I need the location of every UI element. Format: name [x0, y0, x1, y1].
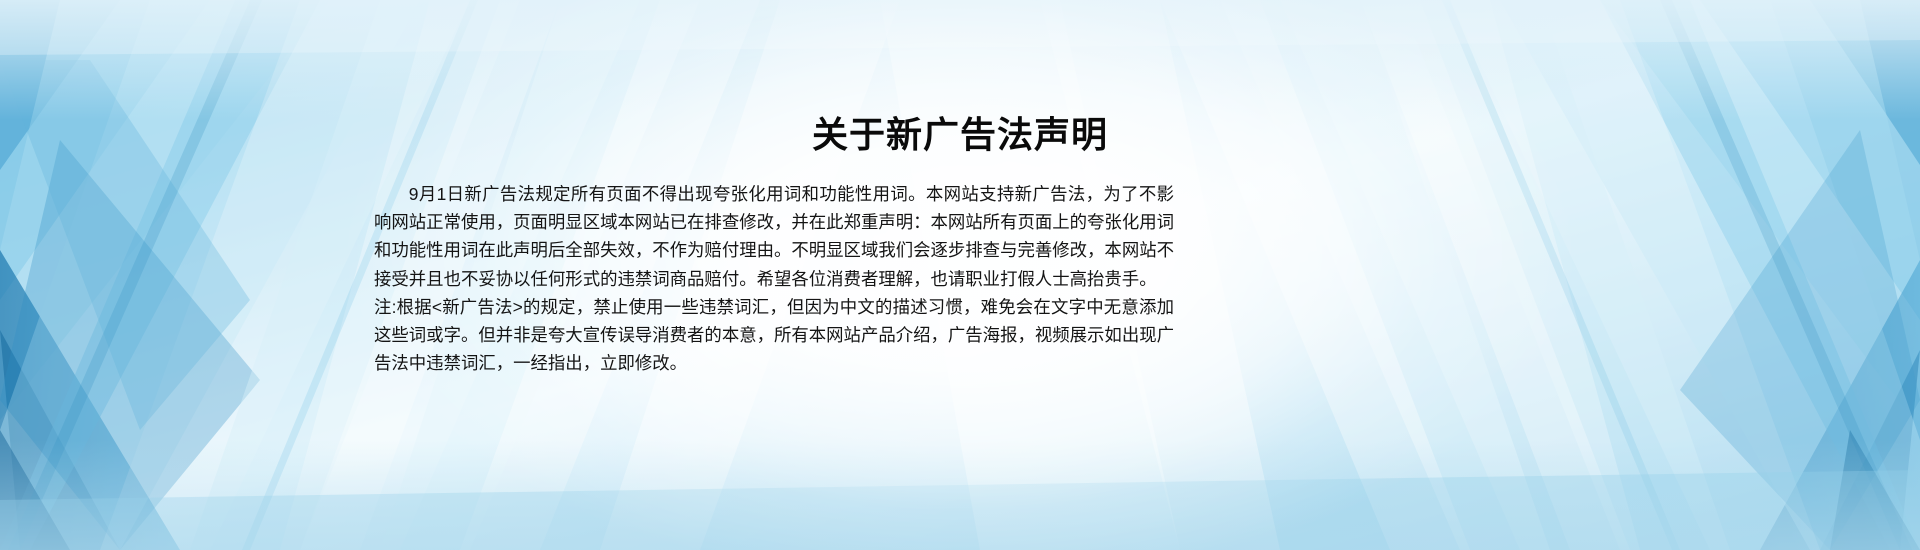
- page-title: 关于新广告法声明: [0, 112, 1920, 157]
- statement-body: 9月1日新广告法规定所有页面不得出现夸张化用词和功能性用词。本网站支持新广告法，…: [374, 180, 1174, 377]
- statement-paragraph-2: 注:根据<新广告法>的规定，禁止使用一些违禁词汇，但因为中文的描述习惯，难免会在…: [374, 293, 1174, 378]
- statement-content: 关于新广告法声明 9月1日新广告法规定所有页面不得出现夸张化用词和功能性用词。本…: [0, 0, 1920, 550]
- advertising-law-statement-banner: 关于新广告法声明 9月1日新广告法规定所有页面不得出现夸张化用词和功能性用词。本…: [0, 0, 1920, 550]
- statement-paragraph-1: 9月1日新广告法规定所有页面不得出现夸张化用词和功能性用词。本网站支持新广告法，…: [374, 180, 1174, 293]
